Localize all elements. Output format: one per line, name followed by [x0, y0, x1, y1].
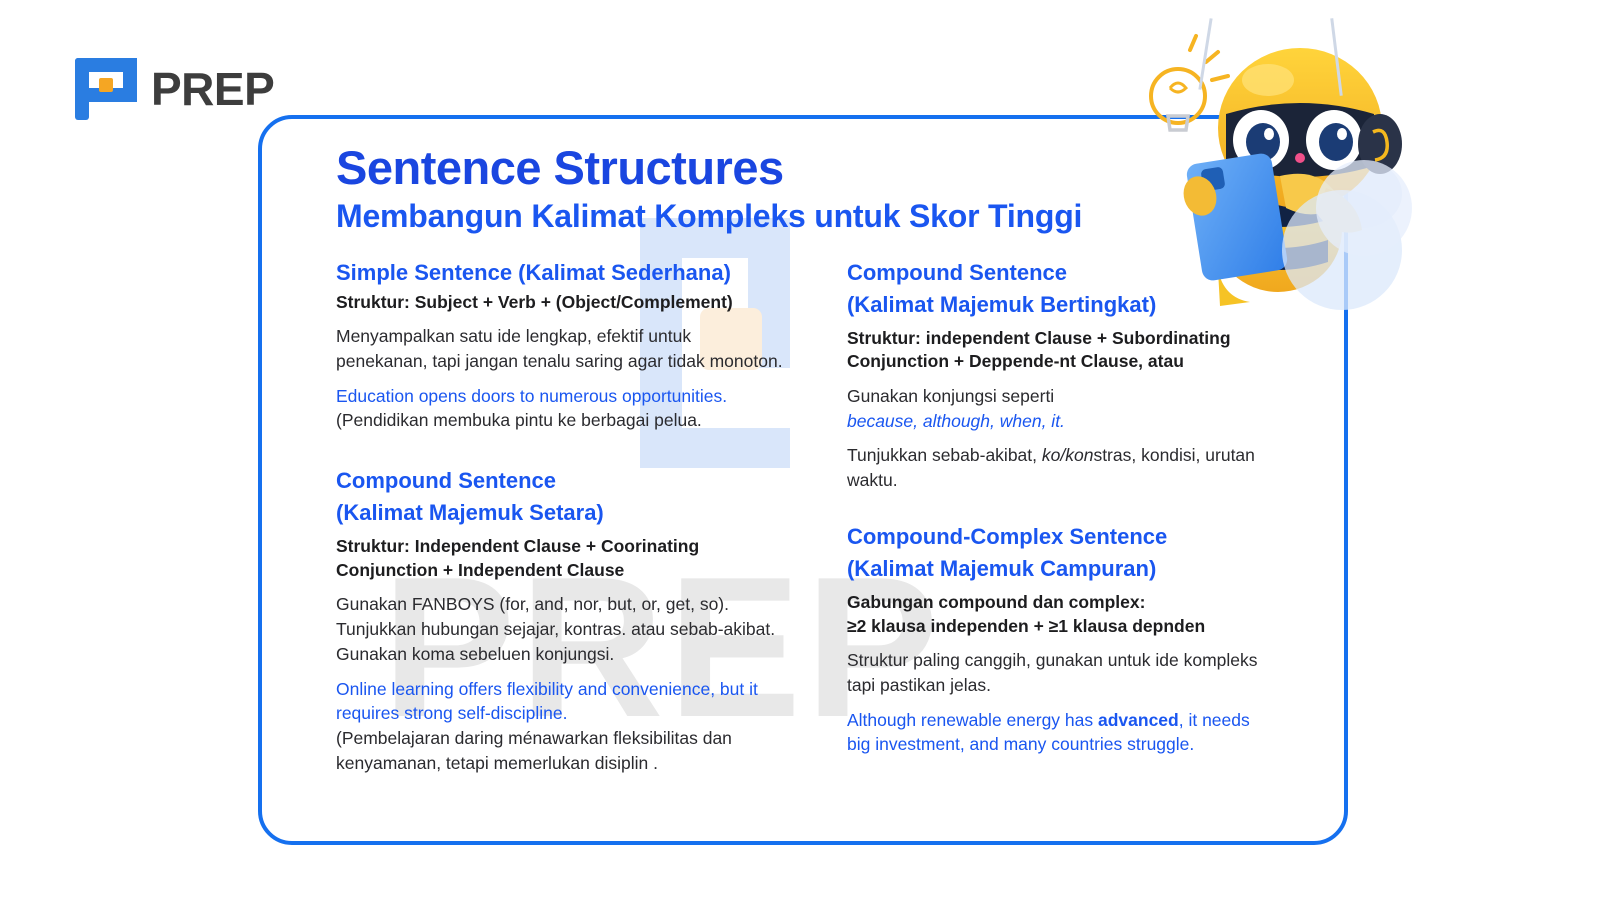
section-structure: Struktur: Independent Clause + Coorinati… — [336, 535, 785, 582]
example-english: Online learning offers flexibility and c… — [336, 679, 758, 724]
brand-name: PREP — [151, 62, 274, 116]
right-column: Compound Sentence (Kalimat Majemuk Berti… — [847, 259, 1276, 776]
example-pre: Although renewable energy has — [847, 710, 1098, 730]
bee-robot-mascot-icon — [1130, 18, 1420, 308]
section-example: Education opens doors to numerous opport… — [336, 384, 785, 434]
example-bold: advanced — [1098, 710, 1179, 730]
section-body: Gunakan FANBOYS (for, and, nor, but, or,… — [336, 592, 785, 667]
example-indonesian: (Pendidikan membuka pintu ke berbagai pe… — [336, 408, 785, 433]
section-structure: Struktur: independent Clause + Subordina… — [847, 327, 1276, 374]
section-body: Menyampalkan satu ide lengkap, efektif u… — [336, 324, 785, 374]
section-structure: Struktur: Subject + Verb + (Object/Compl… — [336, 291, 785, 314]
section-simple-sentence: Simple Sentence (Kalimat Sederhana) Stru… — [336, 259, 785, 433]
lightbulb-icon — [1151, 36, 1228, 130]
section-example: Online learning offers flexibility and c… — [336, 677, 785, 776]
prep-logo-icon — [75, 58, 137, 120]
section-compound-sentence: Compound Sentence (Kalimat Majemuk Setar… — [336, 467, 785, 776]
section-compound-complex-sentence: Compound-Complex Sentence (Kalimat Majem… — [847, 523, 1276, 757]
relations-lead: Tunjukkan sebab-akibat, — [847, 445, 1042, 465]
section-heading-line1: Compound Sentence — [336, 467, 785, 496]
structure-line1: Gabungan compound dan complex: — [847, 592, 1145, 612]
example-english: Education opens doors to numerous opport… — [336, 386, 727, 406]
structure-line2: ≥2 klausa independen + ≥1 klausa depnden — [847, 616, 1205, 636]
section-body: Struktur paling canggih, gunakan untuk i… — [847, 648, 1276, 698]
body-lead: Gunakan konjungsi seperti — [847, 386, 1054, 406]
example-indonesian: (Pembelajaran daring ménawarkan fleksibi… — [336, 726, 785, 776]
section-heading: Simple Sentence (Kalimat Sederhana) — [336, 259, 785, 288]
left-column: Simple Sentence (Kalimat Sederhana) Stru… — [336, 259, 785, 776]
section-heading-line2: (Kalimat Majemuk Campuran) — [847, 555, 1276, 584]
relations-italic: ko/kon — [1042, 445, 1094, 465]
section-heading-line2: (Kalimat Majemuk Setara) — [336, 499, 785, 528]
section-body-relations: Tunjukkan sebab-akibat, ko/konstras, kon… — [847, 443, 1276, 493]
brand-logo: PREP — [75, 58, 274, 120]
section-example: Although renewable energy has advanced, … — [847, 708, 1276, 758]
section-heading-line1: Compound-Complex Sentence — [847, 523, 1276, 552]
columns-wrapper: Simple Sentence (Kalimat Sederhana) Stru… — [336, 259, 1276, 776]
section-body-conjunctions: Gunakan konjungsi seperti because, altho… — [847, 384, 1276, 434]
section-structure: Gabungan compound dan complex: ≥2 klausa… — [847, 591, 1276, 638]
conjunction-list: because, although, when, it. — [847, 411, 1065, 431]
